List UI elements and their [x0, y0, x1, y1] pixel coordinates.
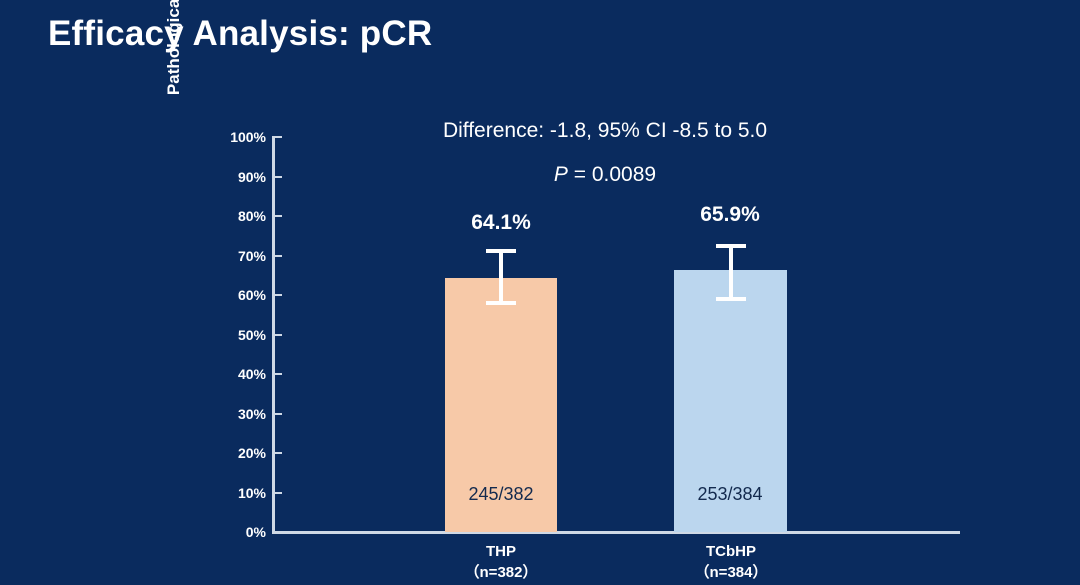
error-bar-thp-stem	[499, 249, 503, 305]
annotation-difference: Difference: -1.8, 95% CI -8.5 to 5.0	[320, 119, 890, 143]
bar-value-label-tcbhp: 65.9%	[650, 203, 810, 227]
y-tick-40: 40%	[206, 364, 282, 384]
y-tick-mark	[272, 294, 282, 296]
bar-fraction-label-tcbhp: 253/384	[650, 484, 810, 505]
y-tick-50: 50%	[206, 325, 282, 345]
y-tick-70: 70%	[206, 246, 282, 266]
x-axis-line	[272, 531, 960, 534]
error-bar-thp-cap-lower	[486, 301, 516, 305]
y-tick-mark	[272, 215, 282, 217]
y-tick-mark	[272, 452, 282, 454]
y-tick-label: 90%	[208, 167, 266, 187]
error-bar-tcbhp-cap-upper	[716, 244, 746, 248]
y-tick-label: 60%	[208, 285, 266, 305]
y-tick-label: 70%	[208, 246, 266, 266]
slide-canvas: Efficacy Analysis: pCR Pathological comp…	[0, 0, 1080, 585]
y-tick-label: 80%	[208, 206, 266, 226]
error-bar-thp-cap-upper	[486, 249, 516, 253]
y-tick-10: 10%	[206, 483, 282, 503]
bar-chart: Pathological complete response rates 100…	[0, 0, 1080, 585]
y-tick-mark	[272, 413, 282, 415]
y-tick-label: 100%	[208, 127, 266, 147]
y-tick-60: 60%	[206, 285, 282, 305]
x-axis-label-tcbhp-name: TCbHP	[621, 541, 841, 562]
y-tick-30: 30%	[206, 404, 282, 424]
y-tick-label: 40%	[208, 364, 266, 384]
bar-fraction-label-thp: 245/382	[421, 484, 581, 505]
x-axis-label-tcbhp-n: （n=384）	[621, 562, 841, 583]
error-bar-tcbhp-stem	[729, 244, 733, 301]
x-axis-label-thp-name: THP	[391, 541, 611, 562]
y-tick-mark	[272, 176, 282, 178]
p-symbol: P	[554, 163, 568, 186]
p-value-text: = 0.0089	[568, 163, 656, 186]
y-tick-mark	[272, 255, 282, 257]
annotation-p-value: P = 0.0089	[320, 163, 890, 187]
y-tick-mark	[272, 334, 282, 336]
y-tick-label: 10%	[208, 483, 266, 503]
y-tick-label: 30%	[208, 404, 266, 424]
y-tick-0: 0%	[206, 522, 282, 542]
error-bar-tcbhp-cap-lower	[716, 297, 746, 301]
y-tick-20: 20%	[206, 443, 282, 463]
y-tick-mark	[272, 492, 282, 494]
bar-value-label-thp: 64.1%	[421, 211, 581, 235]
x-axis-label-thp-n: （n=382）	[391, 562, 611, 583]
y-tick-100: 100%	[206, 127, 282, 147]
y-tick-label: 20%	[208, 443, 266, 463]
y-tick-mark	[272, 136, 282, 138]
x-axis-label-thp: THP （n=382）	[391, 541, 611, 583]
y-tick-mark	[272, 531, 282, 533]
y-tick-mark	[272, 373, 282, 375]
x-axis-label-tcbhp: TCbHP （n=384）	[621, 541, 841, 583]
y-tick-label: 50%	[208, 325, 266, 345]
y-tick-80: 80%	[206, 206, 282, 226]
y-axis-title: Pathological complete response rates	[161, 0, 187, 152]
y-tick-label: 0%	[208, 522, 266, 542]
y-tick-90: 90%	[206, 167, 282, 187]
